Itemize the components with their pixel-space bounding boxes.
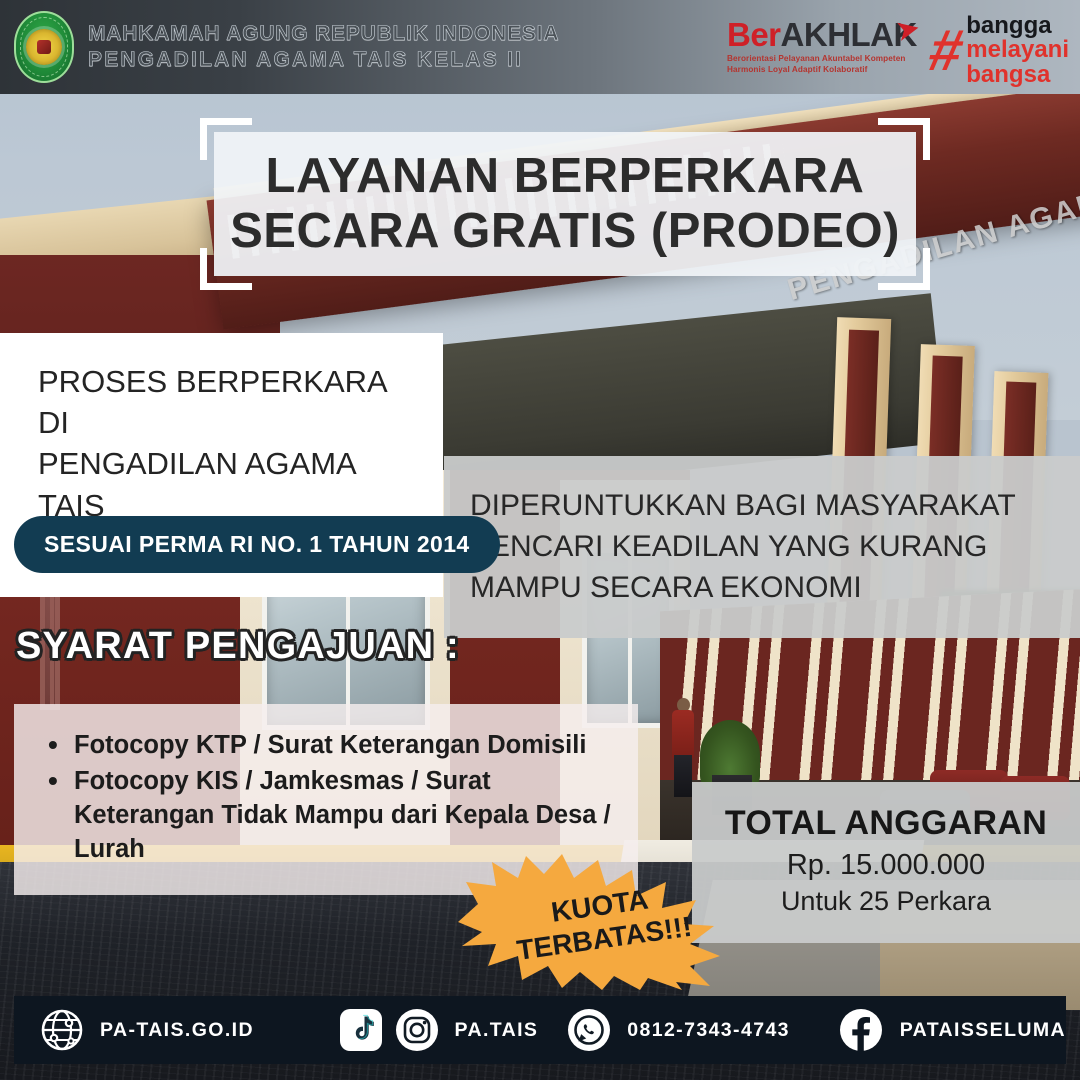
facebook-contact[interactable]: PATAISSELUMA bbox=[838, 1007, 1066, 1053]
berakhlak-tagline-1: Berorientasi Pelayanan Akuntabel Kompete… bbox=[727, 54, 907, 65]
syarat-list: Fotocopy KTP / Surat Keterangan Domisili… bbox=[44, 728, 612, 867]
perma-badge: SESUAI PERMA RI NO. 1 TAHUN 2014 bbox=[14, 516, 500, 573]
target-audience-block: DIPERUNTUKKAN BAGI MASYARAKAT PENCARI KE… bbox=[444, 456, 1080, 638]
hash-icon: # bbox=[924, 25, 967, 77]
title-line-2: SECARA GRATIS (PRODEO) bbox=[230, 204, 900, 259]
website-label: PA-TAIS.GO.ID bbox=[100, 1019, 254, 1042]
website-contact[interactable]: PA-TAIS.GO.ID bbox=[40, 1008, 254, 1052]
proses-line-1: PROSES BERPERKARA DI bbox=[38, 361, 417, 443]
org-line-2: PENGADILAN AGAMA TAIS KELAS II bbox=[88, 47, 559, 73]
footer-contact-bar: PA-TAIS.GO.ID PA.TA bbox=[14, 996, 1066, 1064]
instagram-contact[interactable]: PA.TAIS bbox=[395, 1008, 539, 1052]
berakhlak-tagline-2: Harmonis Loyal Adaptif Kolaboratif bbox=[727, 65, 907, 76]
bangga-words: bangga melayani bangsa bbox=[966, 14, 1069, 87]
whatsapp-contact[interactable]: 0812-7343-4743 bbox=[567, 1008, 790, 1052]
berakhlak-logo: BerAKHLAK ➤ Berorientasi Pelayanan Akunt… bbox=[727, 18, 907, 76]
list-item: Fotocopy KTP / Surat Keterangan Domisili bbox=[44, 728, 612, 762]
whatsapp-label: 0812-7343-4743 bbox=[627, 1019, 790, 1042]
court-seal-icon bbox=[14, 11, 74, 83]
bangga-line-3: bangsa bbox=[966, 63, 1069, 87]
bangga-melayani-bangsa-logo: # bangga melayani bangsa bbox=[930, 14, 1069, 87]
tiktok-icon bbox=[339, 1008, 383, 1052]
instagram-icon bbox=[395, 1008, 439, 1052]
target-line-1: DIPERUNTUKKAN BAGI MASYARAKAT bbox=[470, 486, 1052, 527]
tiktok-contact[interactable] bbox=[339, 1008, 383, 1052]
target-line-3: MAMPU SECARA EKONOMI bbox=[470, 568, 1052, 609]
berakhlak-arrow-icon: ➤ bbox=[894, 12, 922, 47]
facebook-label: PATAISSELUMA bbox=[900, 1019, 1066, 1042]
proses-line-2: PENGADILAN AGAMA TAIS bbox=[38, 443, 417, 525]
title-line-1: LAYANAN BERPERKARA bbox=[266, 149, 865, 204]
person-in-red-batik bbox=[672, 710, 694, 758]
org-line-1: MAHKAMAH AGUNG REPUBLIK INDONESIA bbox=[88, 21, 559, 47]
poster-canvas: PENGADILAN AGAMA TAIS bbox=[0, 0, 1080, 1080]
whatsapp-icon bbox=[567, 1008, 611, 1052]
seal-center bbox=[26, 29, 62, 65]
bangga-line-2: melayani bbox=[966, 38, 1069, 62]
person-legs bbox=[674, 755, 692, 797]
total-title: TOTAL ANGGARAN bbox=[710, 804, 1062, 843]
globe-icon bbox=[40, 1008, 84, 1052]
syarat-heading: SYARAT PENGAJUAN : bbox=[16, 625, 460, 668]
title-panel: LAYANAN BERPERKARA SECARA GRATIS (PRODEO… bbox=[214, 132, 916, 276]
facebook-icon bbox=[838, 1007, 884, 1053]
instagram-label: PA.TAIS bbox=[455, 1019, 539, 1042]
main-title-block: LAYANAN BERPERKARA SECARA GRATIS (PRODEO… bbox=[200, 118, 930, 290]
organization-titles: MAHKAMAH AGUNG REPUBLIK INDONESIA PENGAD… bbox=[88, 21, 559, 72]
berakhlak-ber: Ber bbox=[727, 16, 781, 53]
kuota-terbatas-burst: KUOTA TERBATAS!!! bbox=[452, 852, 752, 992]
total-amount: Rp. 15.000.000 bbox=[710, 849, 1062, 882]
target-line-2: PENCARI KEADILAN YANG KURANG bbox=[470, 527, 1052, 568]
bangga-line-1: bangga bbox=[966, 14, 1069, 38]
header-bar: MAHKAMAH AGUNG REPUBLIK INDONESIA PENGAD… bbox=[0, 0, 1080, 94]
total-case-count: Untuk 25 Perkara bbox=[710, 886, 1062, 917]
